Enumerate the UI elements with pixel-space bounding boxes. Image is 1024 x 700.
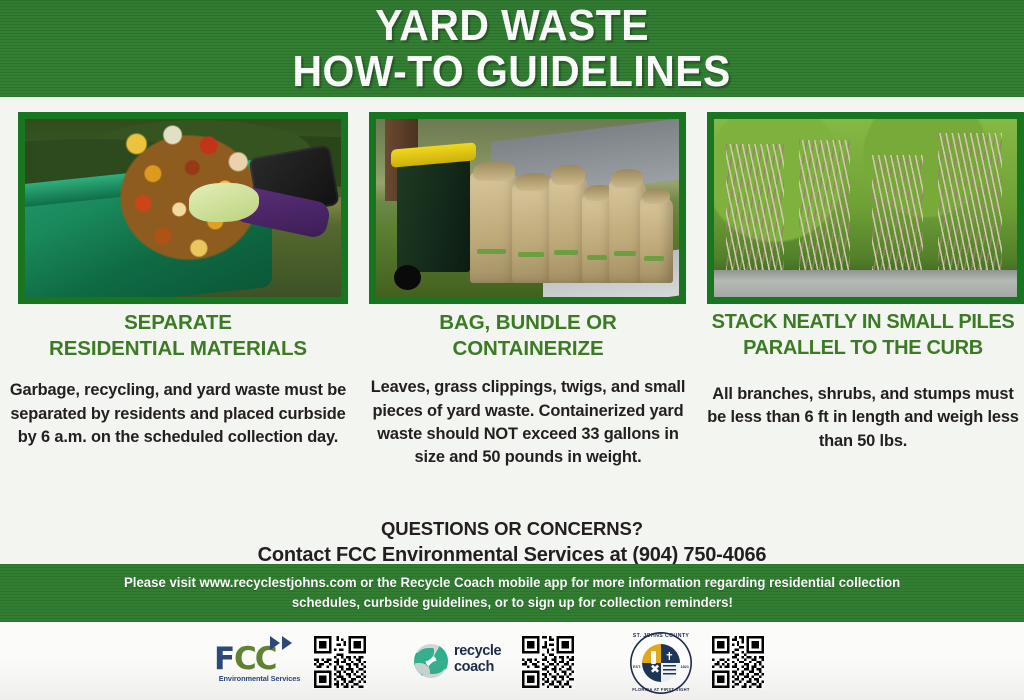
chevron-right-icon [282, 636, 292, 650]
column-3-body: All branches, shrubs, and stumps must be… [702, 383, 1024, 453]
page-title-line1: YARD WASTE [375, 4, 649, 47]
photo-leaves-in-cart [18, 112, 348, 304]
column-1-body: Garbage, recycling, and yard waste must … [8, 379, 348, 449]
column-1-heading-line1: SEPARATE [8, 310, 348, 336]
questions-heading: QUESTIONS OR CONCERNS? [0, 518, 1024, 540]
st-johns-county-qr-code[interactable] [712, 636, 764, 688]
column-2-heading-line2: CONTAINERIZE [366, 336, 690, 362]
cross-icon: ✖ [649, 663, 661, 675]
recycle-coach-line2: coach [454, 660, 501, 676]
qr-code-icon [522, 636, 574, 688]
seal-est-label: EST. [633, 665, 641, 669]
column-bag-bundle-or-containerize: BAG, BUNDLE OR CONTAINERIZE Leaves, gras… [366, 310, 690, 470]
column-3-heading-line2: PARALLEL TO THE CURB [702, 336, 1024, 362]
photo-branch-bundles [707, 112, 1024, 304]
column-2-heading-line1: BAG, BUNDLE OR [366, 310, 690, 336]
column-2-heading: BAG, BUNDLE OR CONTAINERIZE [366, 310, 690, 362]
qr-code-icon [314, 636, 366, 688]
waves-icon [663, 665, 676, 675]
column-3-heading-line1: STACK NEATLY IN SMALL PILES [702, 310, 1024, 336]
column-stack-neatly-small-piles: STACK NEATLY IN SMALL PILES PARALLEL TO … [702, 310, 1024, 453]
fcc-logo: F CC Environmental Services [212, 622, 307, 700]
seal-bottom-text: FLORIDA AT FIRST SIGHT [630, 687, 692, 692]
guidelines-columns: SEPARATE RESIDENTIAL MATERIALS Garbage, … [0, 310, 1024, 510]
qr-code-icon [712, 636, 764, 688]
fcc-logo-mark: F CC [212, 634, 307, 674]
column-separate-residential-materials: SEPARATE RESIDENTIAL MATERIALS Garbage, … [8, 310, 348, 449]
photo-row [0, 112, 1024, 304]
logo-strip: F CC Environmental Services [0, 622, 1024, 700]
flyer-page: YARD WASTE HOW-TO GUIDELINES [0, 0, 1024, 700]
recycle-swirl-icon [414, 644, 448, 678]
bird-icon: ✝ [665, 652, 674, 663]
st-johns-county-seal: ST. JOHNS COUNTY FLORIDA AT FIRST SIGHT … [618, 622, 704, 700]
seal-top-text: ST. JOHNS COUNTY [630, 633, 692, 639]
column-2-body: Leaves, grass clippings, twigs, and smal… [366, 376, 690, 469]
photo-cart-and-bags [369, 112, 686, 304]
seal-outer-ring: ST. JOHNS COUNTY FLORIDA AT FIRST SIGHT … [630, 632, 692, 694]
column-3-heading: STACK NEATLY IN SMALL PILES PARALLEL TO … [702, 310, 1024, 361]
column-1-heading-line2: RESIDENTIAL MATERIALS [8, 336, 348, 362]
fcc-qr-code[interactable] [314, 636, 366, 688]
questions-section: QUESTIONS OR CONCERNS? Contact FCC Envir… [0, 518, 1024, 567]
page-title-line2: HOW-TO GUIDELINES [293, 50, 731, 93]
chevron-right-icon [270, 636, 280, 650]
seal-quadrants: ✝ ✖ [642, 644, 680, 682]
recycle-coach-wordmark: recycle coach [454, 644, 501, 675]
seal-est-year: 1821 [681, 665, 689, 669]
footer-band-line2: schedules, curbside guidelines, or to si… [291, 593, 732, 613]
footer-band-line1: Please visit www.recyclestjohns.com or t… [124, 573, 900, 593]
recycle-coach-line1: recycle [454, 644, 501, 660]
fcc-logo-subtitle: Environmental Services [212, 674, 307, 683]
column-1-heading: SEPARATE RESIDENTIAL MATERIALS [8, 310, 348, 362]
header-banner: YARD WASTE HOW-TO GUIDELINES [0, 0, 1024, 97]
fcc-letter-f: F [214, 644, 235, 675]
footer-band: Please visit www.recyclestjohns.com or t… [0, 564, 1024, 622]
recycle-coach-logo: recycle coach [414, 622, 514, 700]
recycle-coach-qr-code[interactable] [522, 636, 574, 688]
